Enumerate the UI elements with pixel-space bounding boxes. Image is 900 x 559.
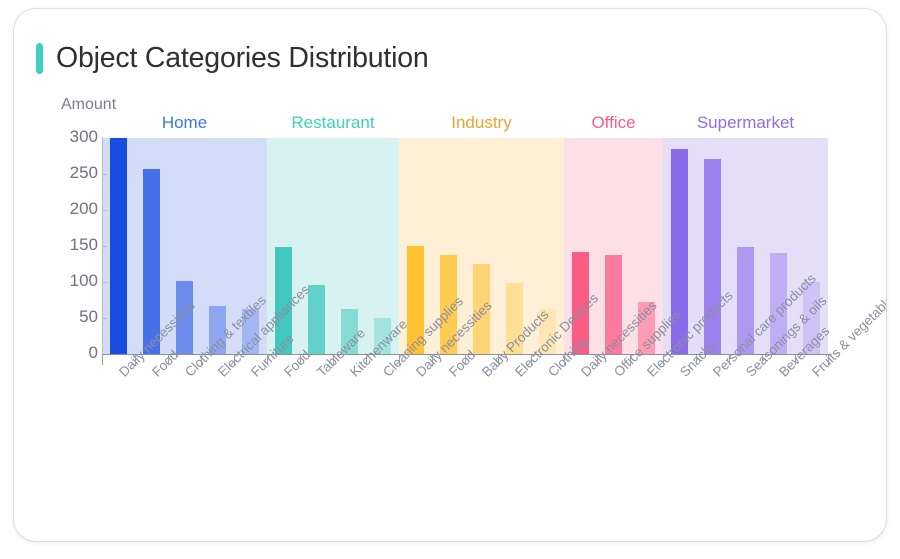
y-axis-tick-mark [102, 174, 107, 175]
x-axis-tick-mark [564, 355, 565, 365]
x-axis-tick-mark [234, 355, 235, 365]
group-label-industry: Industry [399, 113, 564, 133]
y-axis-tick-mark [102, 282, 107, 283]
x-axis-tick-mark [267, 355, 268, 365]
y-axis-tick-label: 100 [58, 271, 98, 291]
y-axis-tick-mark [102, 210, 107, 211]
x-axis-tick-mark [531, 355, 532, 365]
group-label-restaurant: Restaurant [267, 113, 399, 133]
x-axis-tick-mark [102, 355, 103, 365]
x-axis-tick-mark [762, 355, 763, 365]
x-axis-tick-mark [663, 355, 664, 365]
y-axis-tick-mark [102, 318, 107, 319]
y-axis-tick-label: 200 [58, 199, 98, 219]
x-axis-tick-mark [498, 355, 499, 365]
y-axis-tick-label: 0 [58, 343, 98, 363]
group-label-supermarket: Supermarket [663, 113, 828, 133]
x-axis-tick-mark [300, 355, 301, 365]
page-title: Object Categories Distribution [56, 42, 429, 75]
x-axis-tick-mark [828, 355, 829, 365]
x-axis-tick-mark [465, 355, 466, 365]
x-axis-tick-mark [333, 355, 334, 365]
x-axis-tick-mark [630, 355, 631, 365]
chart-card: Object Categories Distribution Amount 30… [14, 9, 886, 541]
title-accent-bar [36, 43, 43, 74]
y-axis-tick-label: 50 [58, 307, 98, 327]
y-axis-tick-mark [102, 246, 107, 247]
y-axis-tick-labels: 300250200150100500 [54, 9, 98, 541]
y-axis-tick-label: 250 [58, 163, 98, 183]
bar[interactable] [110, 138, 127, 354]
x-axis-tick-mark [729, 355, 730, 365]
x-axis-tick-mark [399, 355, 400, 365]
group-label-office: Office [564, 113, 663, 133]
y-axis-tick-label: 300 [58, 127, 98, 147]
x-axis-tick-mark [135, 355, 136, 365]
x-axis-tick-mark [696, 355, 697, 365]
x-axis-tick-mark [432, 355, 433, 365]
x-axis-tick-mark [201, 355, 202, 365]
bar[interactable] [308, 285, 325, 354]
x-axis-tick-mark [795, 355, 796, 365]
x-axis-tick-mark [168, 355, 169, 365]
x-axis-tick-mark [366, 355, 367, 365]
x-axis-tick-mark [597, 355, 598, 365]
group-label-home: Home [102, 113, 267, 133]
y-axis-tick-label: 150 [58, 235, 98, 255]
